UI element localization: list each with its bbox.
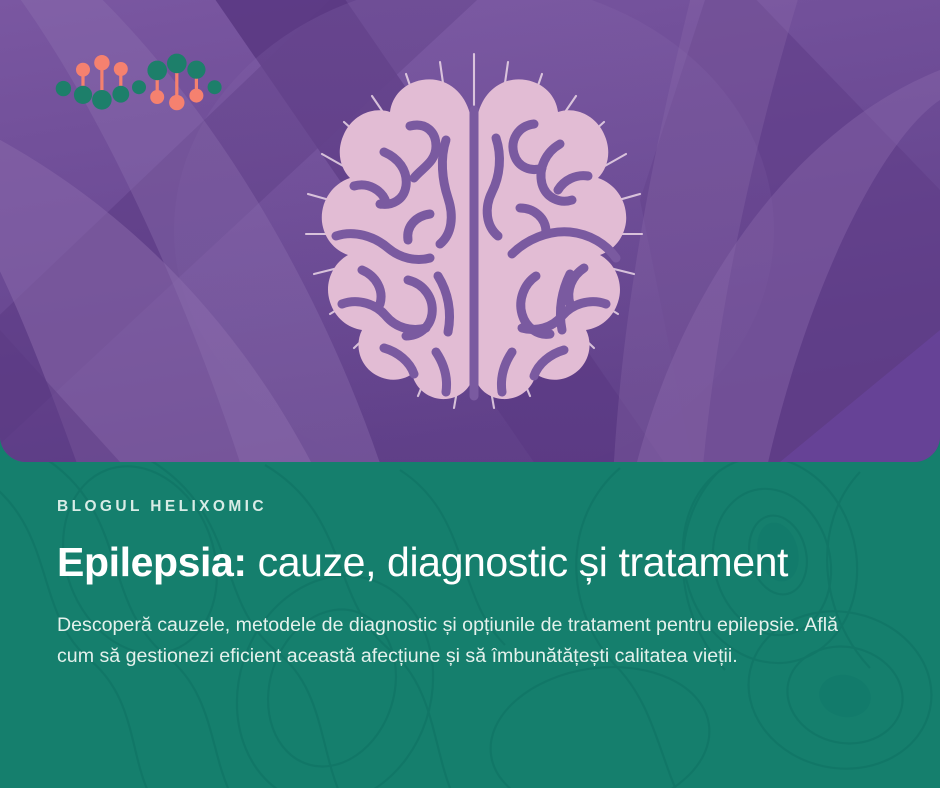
hero-illustration-panel <box>0 0 940 462</box>
blog-label: BLOGUL HELIXOMIC <box>57 498 897 517</box>
page-title: Epilepsia: cauze, diagnostic și tratamen… <box>57 539 897 586</box>
helixomic-logo[interactable] <box>55 45 223 121</box>
brain-illustration <box>288 18 660 430</box>
article-text-block: BLOGUL HELIXOMIC Epilepsia: cauze, diagn… <box>57 498 897 673</box>
page-title-lead: Epilepsia: <box>57 539 247 585</box>
blog-article-card: BLOGUL HELIXOMIC Epilepsia: cauze, diagn… <box>0 0 940 788</box>
page-title-rest: cauze, diagnostic și tratament <box>247 539 788 585</box>
article-summary: Descoperă cauzele, metodele de diagnosti… <box>57 610 857 673</box>
brain-body <box>322 79 626 399</box>
